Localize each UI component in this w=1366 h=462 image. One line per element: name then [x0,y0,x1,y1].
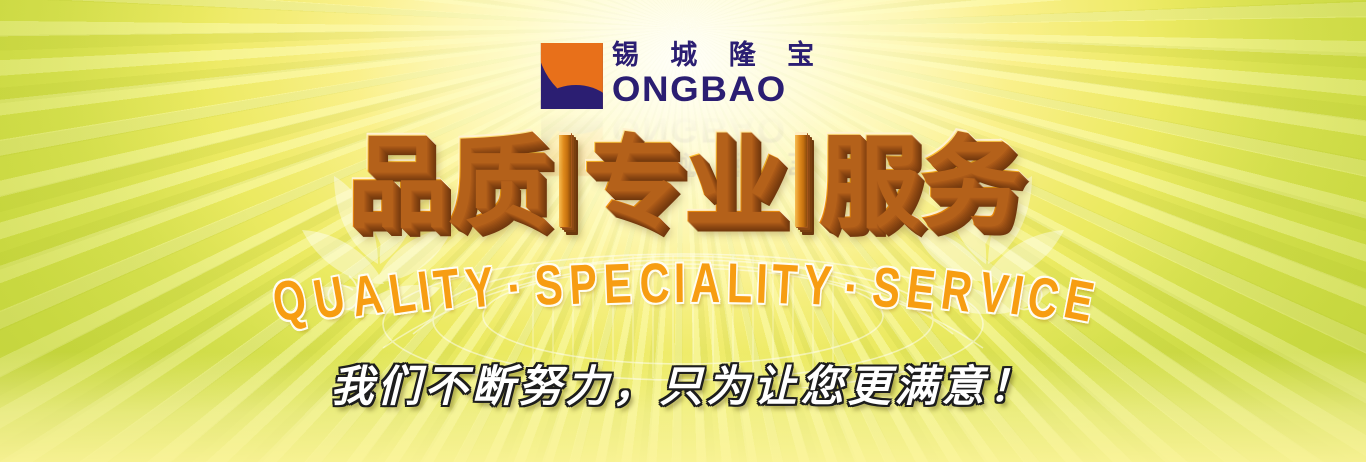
tagline-char: E [1060,270,1098,330]
english-tagline: QUALITY·SPECIALITY·SERVICE [0,272,1366,342]
english-tagline-chars: QUALITY·SPECIALITY·SERVICE [275,272,1091,328]
tagline-char: C [1023,268,1062,328]
headline-items: 品质专业服务 [346,130,1020,234]
logo-english-name: ONGBAO [612,72,836,107]
tagline-char: E [603,255,633,312]
tagline-char: Y [463,258,496,316]
tagline-char: U [310,268,349,328]
tagline-char: S [533,256,564,314]
tagline-char: A [348,265,387,325]
tagline-char: L [726,255,753,312]
headline-word: 品质 [346,130,548,234]
tagline-char: T [770,256,798,313]
tagline-char: R [939,261,976,320]
promotional-banner: 锡 城 隆 宝 ONGBAO 锡 城 隆 宝 ONGBAO 品质专业服务 QUA… [0,0,1366,462]
logo-wordmark: 锡 城 隆 宝 ONGBAO [612,42,825,107]
headline-separator [795,132,807,227]
tagline-char: C [639,255,670,312]
tagline-char: I [674,255,686,311]
tagline-char: E [904,260,938,319]
slogan-line: 我们不断努力，只为让您更满意！ [0,352,1366,414]
slogan-text: 我们不断努力，只为让您更满意！ [331,362,1036,412]
sail-mark-icon [541,43,603,109]
tagline-char: S [870,258,903,316]
tagline-dot: · [842,264,861,311]
tagline-char: A [690,255,720,311]
headline-word: 服务 [818,130,1020,234]
tagline-char: V [976,263,1011,322]
tagline-dot: · [505,264,524,311]
company-logo[interactable]: 锡 城 隆 宝 ONGBAO [541,42,825,109]
headline-3d: 品质专业服务 [0,130,1366,260]
tagline-char: I [755,256,769,312]
tagline-char: Q [269,270,311,331]
tagline-char: L [385,264,418,323]
headline-separator [559,132,571,227]
tagline-char: Y [802,256,833,314]
logo-chinese-name: 锡 城 隆 宝 [612,42,825,69]
tagline-char: P [568,256,599,313]
headline-word: 专业 [582,130,784,234]
